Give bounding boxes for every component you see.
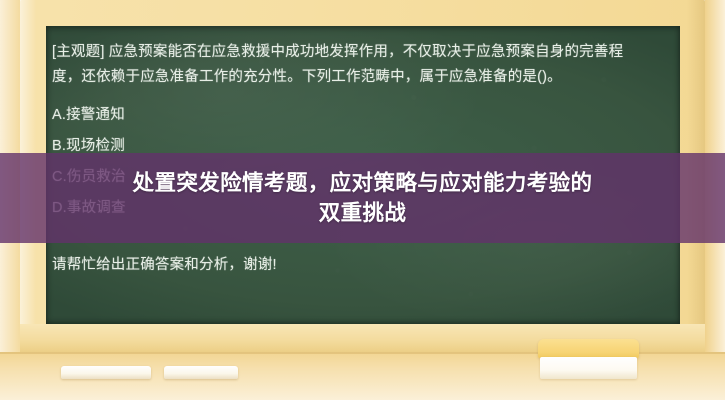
- option-a[interactable]: A.接警通知: [52, 100, 670, 131]
- closing-request-text: 请帮忙给出正确答案和分析，谢谢!: [52, 253, 670, 278]
- question-line-1: [主观题] 应急预案能否在应急救援中成功地发挥作用，不仅取决于应急预案自身的完善…: [52, 40, 670, 65]
- eraser-handle: [538, 339, 639, 358]
- chalk-stick-1: [61, 366, 151, 379]
- question-text: [主观题] 应急预案能否在应急救援中成功地发挥作用，不仅取决于应急预案自身的完善…: [52, 40, 670, 90]
- eraser-felt-pad: [540, 357, 637, 379]
- title-overlay-banner: 处置突发险情考题，应对策略与应对能力考验的 双重挑战: [0, 153, 725, 243]
- blackboard-question-card: [主观题] 应急预案能否在应急救援中成功地发挥作用，不仅取决于应急预案自身的完善…: [0, 0, 725, 400]
- overlay-title-line-2: 双重挑战: [319, 198, 407, 228]
- question-line-2: 度，还依赖于应急准备工作的充分性。下列工作范畴中，属于应急准备的是()。: [52, 65, 670, 90]
- blackboard-eraser: [538, 339, 639, 379]
- overlay-title-line-1: 处置突发险情考题，应对策略与应对能力考验的: [133, 168, 593, 198]
- chalk-stick-2: [164, 366, 238, 379]
